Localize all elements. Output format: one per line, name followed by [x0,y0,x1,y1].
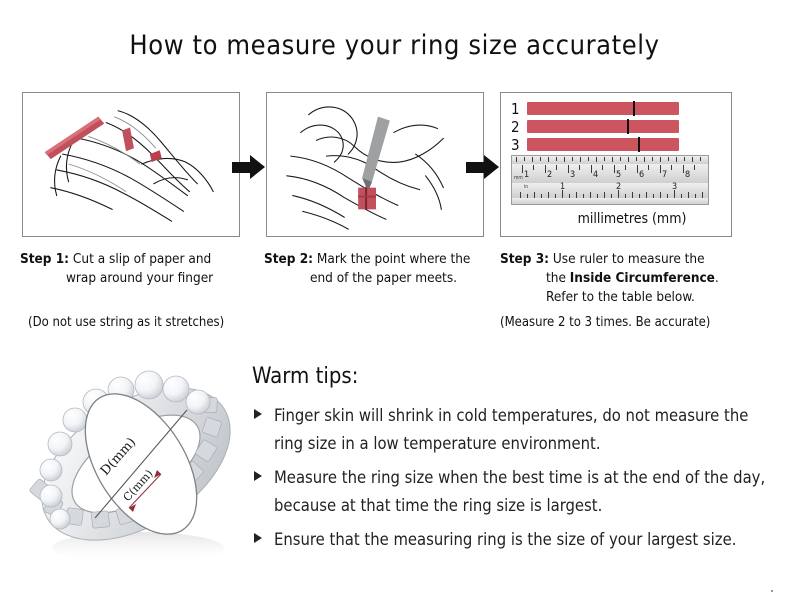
strip-mark-line [633,101,635,116]
warm-tip-text: Finger skin will shrink in cold temperat… [274,406,748,453]
paper-strip-number: 1 [511,100,527,118]
page-title: How to measure your ring size accurately [0,30,789,61]
paper-strip [527,120,679,133]
step-1-line-2: wrap around your finger [20,269,248,288]
hand-marking-paper-sketch [267,93,483,236]
step-3-note: (Measure 2 to 3 times. Be accurate) [500,315,710,330]
triangle-bullet-icon [254,409,262,419]
step-1-label: Step 1: [20,251,69,267]
step-1-line-1: Cut a slip of paper and [73,251,211,267]
inside-circumference-emphasis: Inside Circumference [570,270,715,286]
ruler-inch-ticks: 1 2 3 in [512,156,708,204]
step-3-illustration-panel: 1 2 3 [500,92,732,237]
step-2-line-2: end of the paper meets. [264,269,492,288]
strip-mark-line [638,137,640,152]
step-3-caption: Step 3: Use ruler to measure the the Ins… [500,250,750,307]
paper-mark-shape [358,188,376,210]
triangle-bullet-icon [254,471,262,481]
warm-tip-text: Ensure that the measuring ring is the si… [274,530,736,549]
step-3-line-3: Refer to the table below. [500,288,750,307]
step-1-illustration-panel [22,92,240,237]
warm-tips-list: Finger skin will shrink in cold temperat… [252,402,772,560]
step-2-illustration-panel [266,92,484,237]
arrow-shaft [232,162,252,173]
step-3-line-2-prefix: the [546,270,570,286]
ruler-unit-caption: millimetres (mm) [501,211,732,227]
paper-strip-number: 2 [511,118,527,136]
step-2-line-1: Mark the point where the [317,251,471,267]
warm-tip-text: Measure the ring size when the best time… [274,468,765,515]
paper-slip-shape [45,117,104,159]
step-3-label: Step 3: [500,251,549,267]
paper-strip [527,102,679,115]
warm-tips-heading: Warm tips: [252,364,358,389]
step-2-label: Step 2: [264,251,313,267]
ruler-graphic: mm 1 2 3 4 5 6 7 8 1 2 3 in [511,155,709,205]
paper-strip-number: 3 [511,136,527,154]
warm-tip-item: Finger skin will shrink in cold temperat… [252,402,772,458]
hand-with-paper-slip-sketch [23,93,239,236]
triangle-bullet-icon [254,533,262,543]
warm-tip-item: Ensure that the measuring ring is the si… [252,526,772,554]
paper-strip-row-1: 1 [511,101,679,116]
arrow-head [484,155,499,179]
strip-mark-line [627,119,629,134]
warm-tip-item: Measure the ring size when the best time… [252,464,772,520]
paper-strip-row-3: 3 [511,137,679,152]
paper-strip [527,138,679,151]
step-1-caption: Step 1: Cut a slip of paper and wrap aro… [20,250,248,288]
corner-artifact-dot [771,590,773,592]
arrow-shaft [466,162,486,173]
step-3-line-1: Use ruler to measure the [553,251,705,267]
step-3-line-2-suffix: . [715,270,719,286]
step-1-note: (Do not use string as it stretches) [28,315,224,330]
ruler-inch-unit-label: in [524,184,528,190]
paper-strip-row-2: 2 [511,119,679,134]
step-2-caption: Step 2: Mark the point where the end of … [264,250,492,288]
arrow-head [250,155,265,179]
ring-diagram-illustration: D(mm) C(mm) [18,352,253,582]
